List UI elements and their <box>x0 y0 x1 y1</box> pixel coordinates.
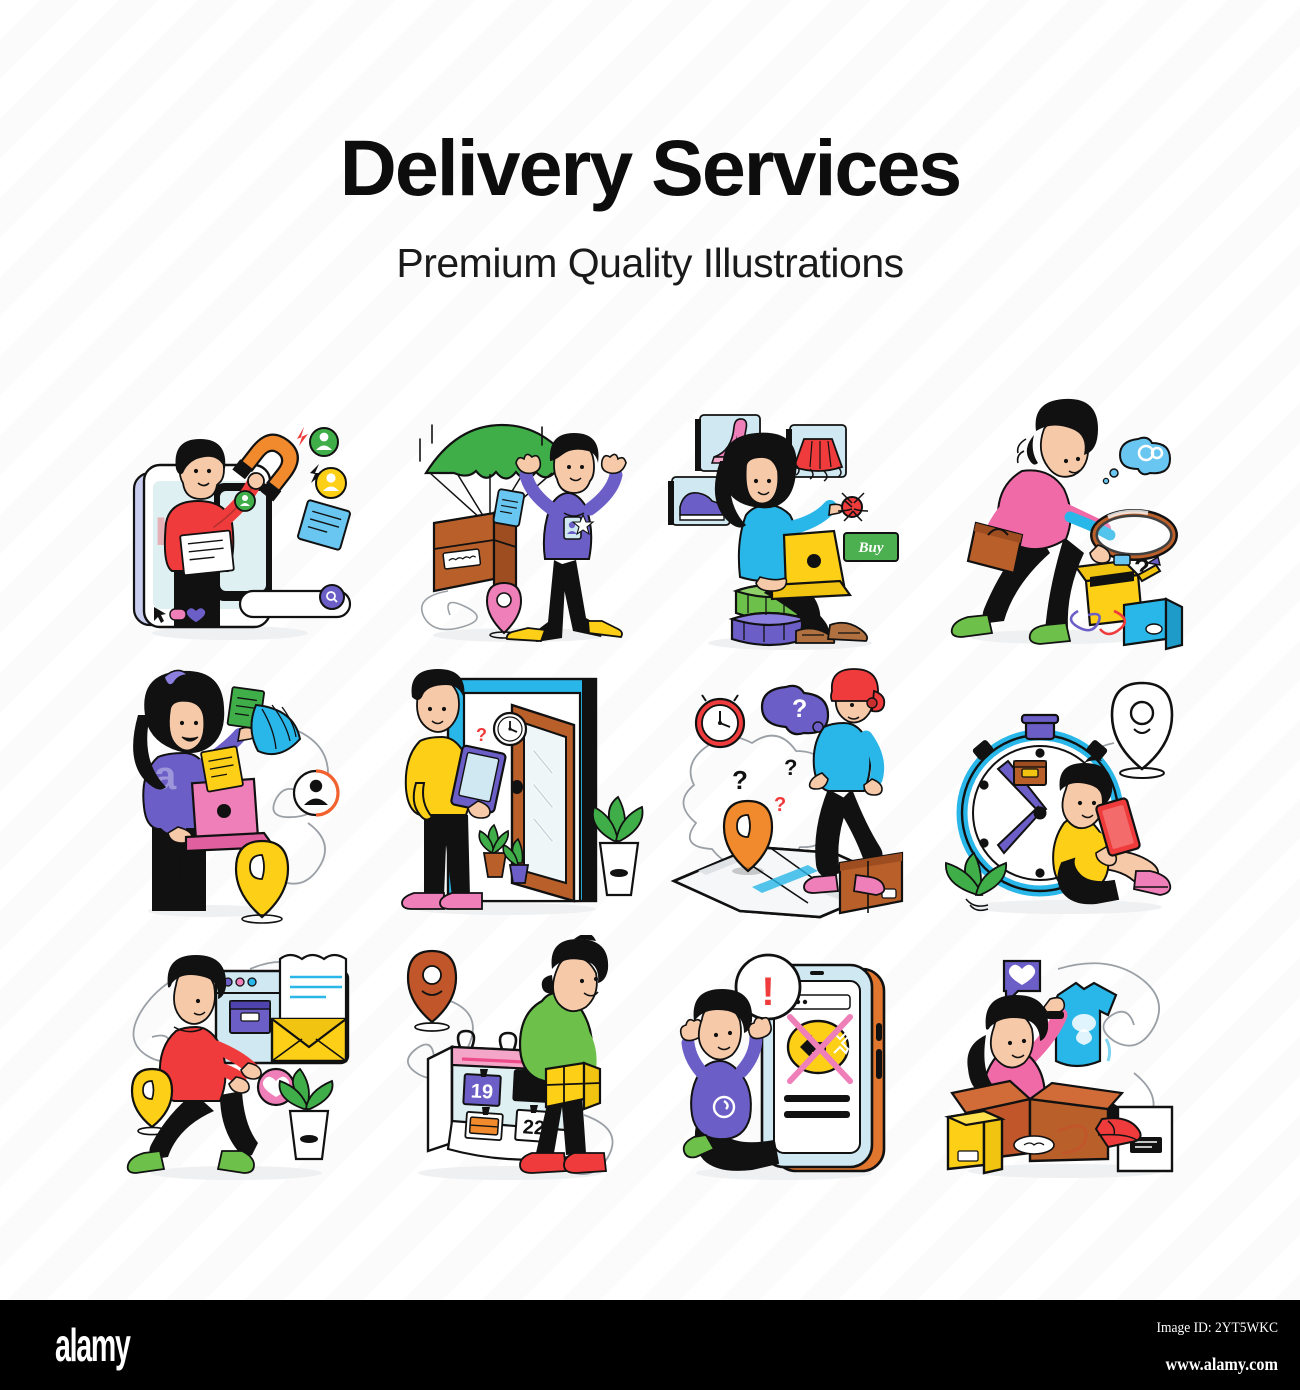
illustration-delivery-notification-email[interactable] <box>110 935 372 1203</box>
illustration-order-management-laptop[interactable]: a <box>110 665 372 933</box>
illustration-unboxing-order[interactable] <box>938 935 1200 1203</box>
watermark-bar: alamy Image ID: 2YT5WKC www.alamy.com <box>0 1300 1300 1390</box>
illustration-doorstep-delivery-waiting[interactable]: ? <box>386 665 648 933</box>
site-url-label[interactable]: www.alamy.com <box>1157 1353 1278 1375</box>
page-title: Delivery Services <box>0 128 1300 207</box>
alamy-logo[interactable]: alamy <box>55 1322 130 1368</box>
buy-button-label: Buy <box>857 540 883 556</box>
calendar-date-19: 19 <box>470 1080 493 1103</box>
poster-header: Delivery Services Premium Quality Illust… <box>0 0 1300 284</box>
watermark-meta: Image ID: 2YT5WKC www.alamy.com <box>1143 1319 1278 1375</box>
poster-sheet: Delivery Services Premium Quality Illust… <box>0 0 1300 1390</box>
illustration-grid: nan <box>110 395 1200 1203</box>
illustration-delivery-schedule-calendar[interactable]: 19 22 <box>386 935 648 1203</box>
page-subtitle: Premium Quality Illustrations <box>0 243 1300 284</box>
illustration-online-shopping-buy[interactable]: Buy <box>662 395 924 663</box>
svg-text:a: a <box>154 754 177 798</box>
illustration-package-inspection-magnifier[interactable]: ? <box>938 395 1200 663</box>
question-mark-label: ? <box>774 794 786 816</box>
illustration-lost-courier-on-map[interactable]: ? ? ? ? <box>662 665 924 933</box>
illustration-waiting-for-delivery-stopwatch[interactable] <box>938 665 1200 933</box>
illustration-payment-failed-alert[interactable]: ! <box>662 935 924 1203</box>
alert-exclamation-label: ! <box>761 970 774 1014</box>
illustration-customer-attraction-magnet[interactable]: nan <box>110 395 372 663</box>
svg-text:?: ? <box>732 765 748 795</box>
question-mark-label: ? <box>476 725 487 745</box>
illustration-parachute-package-delivery[interactable] <box>386 395 648 663</box>
image-id-label: Image ID: 2YT5WKC <box>1157 1319 1278 1337</box>
svg-text:?: ? <box>784 755 797 780</box>
svg-text:?: ? <box>792 695 807 723</box>
